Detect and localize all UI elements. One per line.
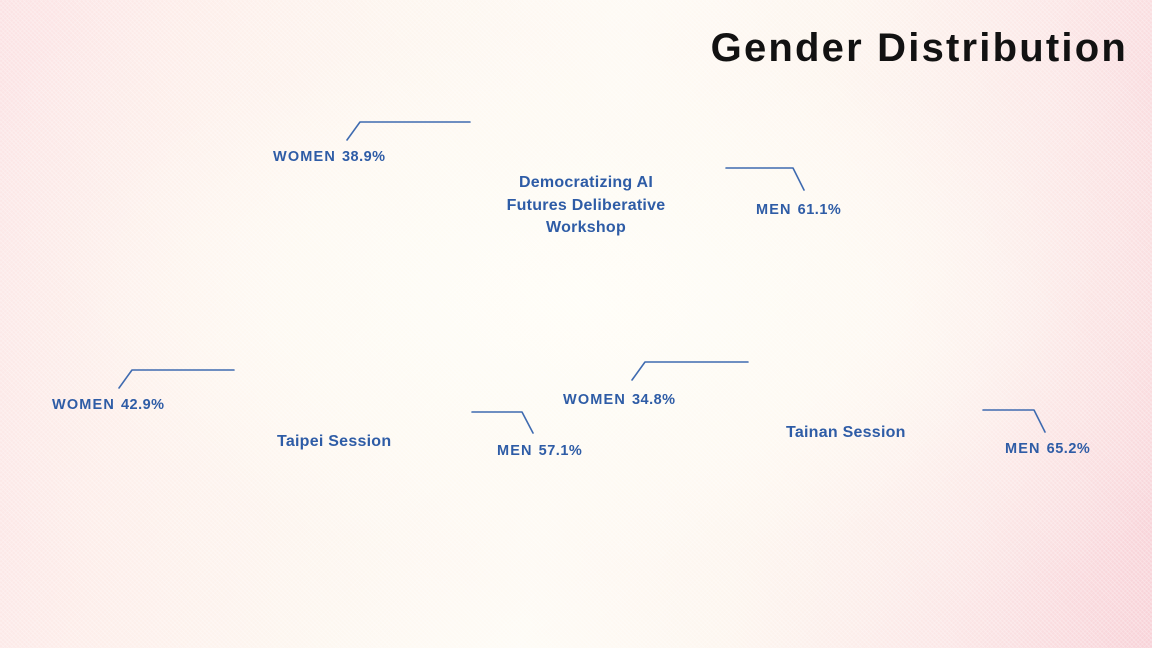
leader-line-overall-women bbox=[347, 122, 470, 140]
stat-taipei-men: MEN57.1% bbox=[497, 442, 582, 462]
leader-line-taipei-men bbox=[472, 412, 533, 433]
group-title-tainan: Tainan Session bbox=[786, 422, 906, 444]
stat-overall-men: MEN61.1% bbox=[756, 201, 841, 221]
stat-value: 38.9% bbox=[342, 149, 386, 165]
stat-taipei-women: WOMEN42.9% bbox=[52, 396, 165, 416]
page-title: Gender Distribution bbox=[711, 26, 1128, 70]
group-title-overall-line-1: Democratizing AI bbox=[481, 172, 691, 195]
stat-category-label: MEN bbox=[497, 443, 533, 459]
leader-lines bbox=[0, 0, 1152, 648]
background-texture bbox=[0, 0, 1152, 648]
leader-line-taipei-women bbox=[119, 370, 234, 388]
stat-tainan-women: WOMEN34.8% bbox=[563, 391, 676, 411]
leader-line-overall-men bbox=[726, 168, 804, 190]
stat-category-label: MEN bbox=[756, 202, 792, 218]
stat-value: 65.2% bbox=[1047, 441, 1091, 457]
stat-value: 34.8% bbox=[632, 392, 676, 408]
stat-category-label: WOMEN bbox=[563, 392, 626, 408]
slide-canvas: Gender Distribution WOMEN38.9% Democrati… bbox=[0, 0, 1152, 648]
group-title-overall: Democratizing AI Futures Deliberative Wo… bbox=[481, 172, 691, 240]
stat-value: 42.9% bbox=[121, 397, 165, 413]
group-title-overall-line-3: Workshop bbox=[481, 217, 691, 240]
leader-line-tainan-men bbox=[983, 410, 1045, 432]
stat-tainan-men: MEN65.2% bbox=[1005, 440, 1090, 460]
group-title-taipei: Taipei Session bbox=[277, 431, 391, 453]
stat-category-label: WOMEN bbox=[273, 149, 336, 165]
leader-line-tainan-women bbox=[632, 362, 748, 380]
stat-category-label: MEN bbox=[1005, 441, 1041, 457]
group-title-overall-line-2: Futures Deliberative bbox=[481, 195, 691, 218]
stat-value: 61.1% bbox=[798, 202, 842, 218]
stat-value: 57.1% bbox=[539, 443, 583, 459]
stat-category-label: WOMEN bbox=[52, 397, 115, 413]
stat-overall-women: WOMEN38.9% bbox=[273, 148, 386, 168]
